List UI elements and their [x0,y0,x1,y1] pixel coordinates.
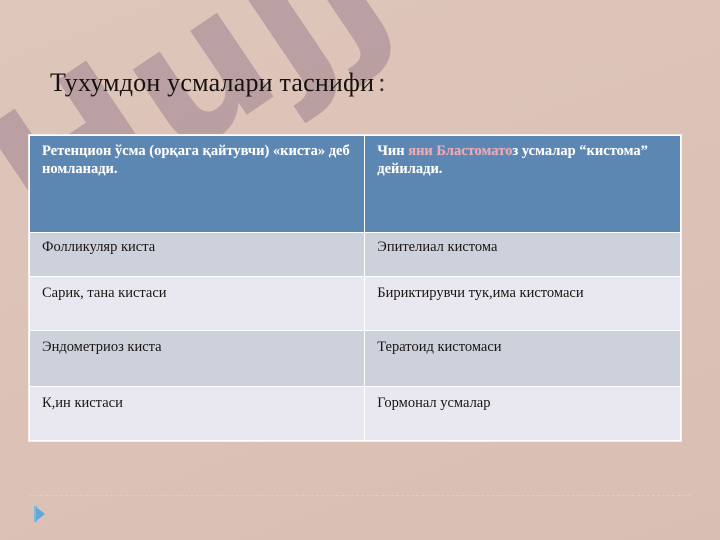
cell-retention-3: Эндометриоз киста [30,331,365,387]
table-row: К,ин кистаси Гормонал усмалар [30,387,681,441]
slide-canvas: Hujjat-24 Тухумдон усмалари таснифи: Рет… [0,0,720,540]
table-header-row: Ретенцион ўсма (орқага қайтувчи) «киста»… [30,136,681,233]
table-row: Эндометриоз киста Тератоид кистомаси [30,331,681,387]
page-title-colon: : [378,68,385,97]
column-header-blastomatous-accent: яни Бластомато [408,143,512,159]
column-header-blastomatous: Чин яни Бластоматоз усмалар “кистома” де… [365,136,681,233]
page-title-text: Тухумдон усмалари таснифи [50,68,374,97]
classification-table-container: Ретенцион ўсма (орқага қайтувчи) «киста»… [28,134,682,442]
footer-divider [30,495,690,497]
cell-retention-1: Фолликуляр киста [30,233,365,277]
cell-retention-4: К,ин кистаси [30,387,365,441]
cell-blastoma-4: Гормонал усмалар [365,387,681,441]
cell-blastoma-3: Тератоид кистомаси [365,331,681,387]
play-triangle-icon[interactable] [34,505,50,523]
table-body: Фолликуляр киста Эпителиал кистома Сарик… [30,233,681,441]
cell-blastoma-1: Эпителиал кистома [365,233,681,277]
cell-blastoma-2: Бириктирувчи тук,има кистомаси [365,277,681,331]
classification-table: Ретенцион ўсма (орқага қайтувчи) «киста»… [29,135,681,441]
column-header-blastomatous-prefix: Чин [377,143,408,159]
page-title: Тухумдон усмалари таснифи: [50,68,386,98]
play-triangle-icon-shape [36,507,45,521]
table-row: Сарик, тана кистаси Бириктирувчи тук,има… [30,277,681,331]
column-header-retention: Ретенцион ўсма (орқага қайтувчи) «киста»… [30,136,365,233]
table-row: Фолликуляр киста Эпителиал кистома [30,233,681,277]
cell-retention-2: Сарик, тана кистаси [30,277,365,331]
table-header: Ретенцион ўсма (орқага қайтувчи) «киста»… [30,136,681,233]
